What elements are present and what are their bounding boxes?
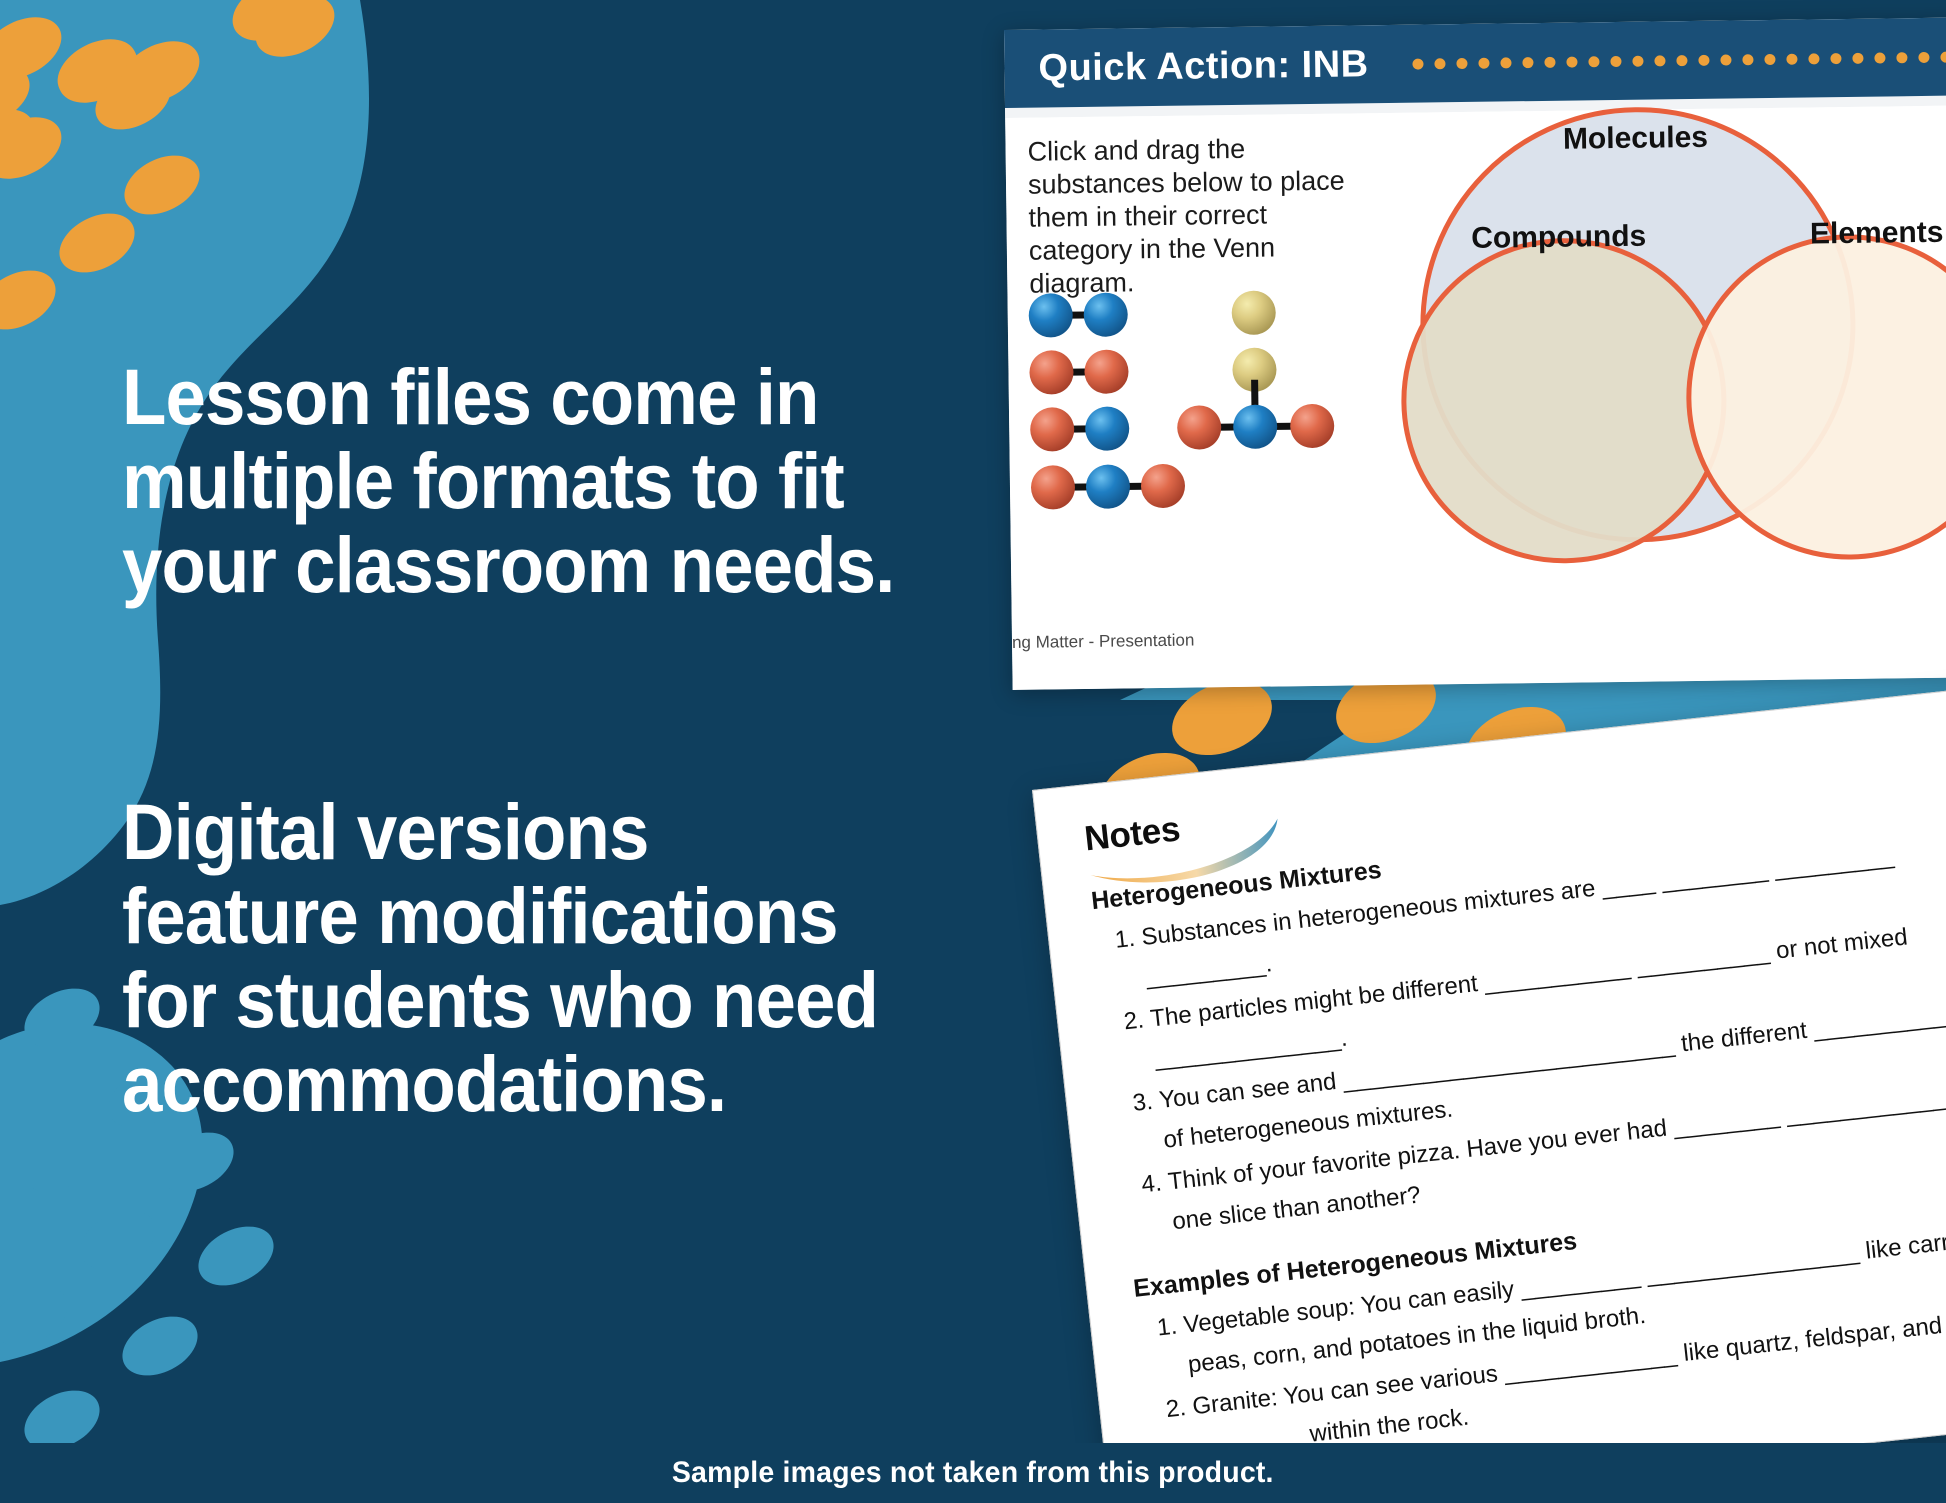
molecule-blue-blue[interactable] xyxy=(1028,292,1128,337)
slide-body: Click and drag the substances below to p… xyxy=(1005,105,1946,690)
headline-line-2: multiple formats to fit xyxy=(122,439,932,523)
subheadline-line-3: for students who need xyxy=(122,958,950,1042)
subheadline-line-4: accommodations. xyxy=(122,1042,950,1126)
subheadline-line-1: Digital versions xyxy=(122,790,950,874)
venn-diagram-svg: Molecules Compounds Elements xyxy=(1335,95,1946,573)
molecule-branched[interactable] xyxy=(1177,379,1335,450)
venn-circle-compounds xyxy=(1402,239,1726,563)
subheadline-block: Digital versions feature modifications f… xyxy=(122,790,1022,1126)
disclaimer-banner: Sample images not taken from this produc… xyxy=(0,1443,1946,1503)
molecule-red-blue[interactable] xyxy=(1030,406,1130,451)
presentation-slide-mockup: Quick Action: INB Click and drag the sub… xyxy=(1004,30,1946,690)
molecule-bank[interactable] xyxy=(1025,283,1358,517)
molecule-models-svg[interactable] xyxy=(1025,283,1358,517)
venn-label-compounds: Compounds xyxy=(1471,220,1646,255)
headline-line-1: Lesson files come in xyxy=(122,355,932,439)
slide-header: Quick Action: INB xyxy=(1004,17,1946,108)
headline-block: Lesson files come in multiple formats to… xyxy=(122,355,1002,607)
slide-footer-text: ng Matter - Presentation xyxy=(1012,631,1195,653)
disclaimer-text: Sample images not taken from this produc… xyxy=(672,1456,1274,1490)
slide-instructions: Click and drag the substances below to p… xyxy=(1027,131,1359,300)
venn-label-molecules: Molecules xyxy=(1563,121,1708,156)
subheadline-line-2: feature modifications xyxy=(122,874,950,958)
notes-worksheet-mockup: Notes Heterogeneous Mixtures Substances … xyxy=(1032,790,1946,1503)
venn-diagram: Molecules Compounds Elements xyxy=(1335,95,1946,578)
headline-line-3: your classroom needs. xyxy=(122,523,932,607)
molecule-red-red[interactable] xyxy=(1029,349,1129,394)
speedometer-icon xyxy=(1022,46,1023,92)
venn-label-elements: Elements xyxy=(1810,216,1944,251)
header-dot-rule xyxy=(1413,51,1946,69)
molecule-red-blue-red[interactable] xyxy=(1031,464,1186,510)
poster-canvas: Lesson files come in multiple formats to… xyxy=(0,0,1946,1503)
slide-title: Quick Action: INB xyxy=(1038,43,1369,90)
molecule-yellow-pair[interactable] xyxy=(1231,290,1276,392)
